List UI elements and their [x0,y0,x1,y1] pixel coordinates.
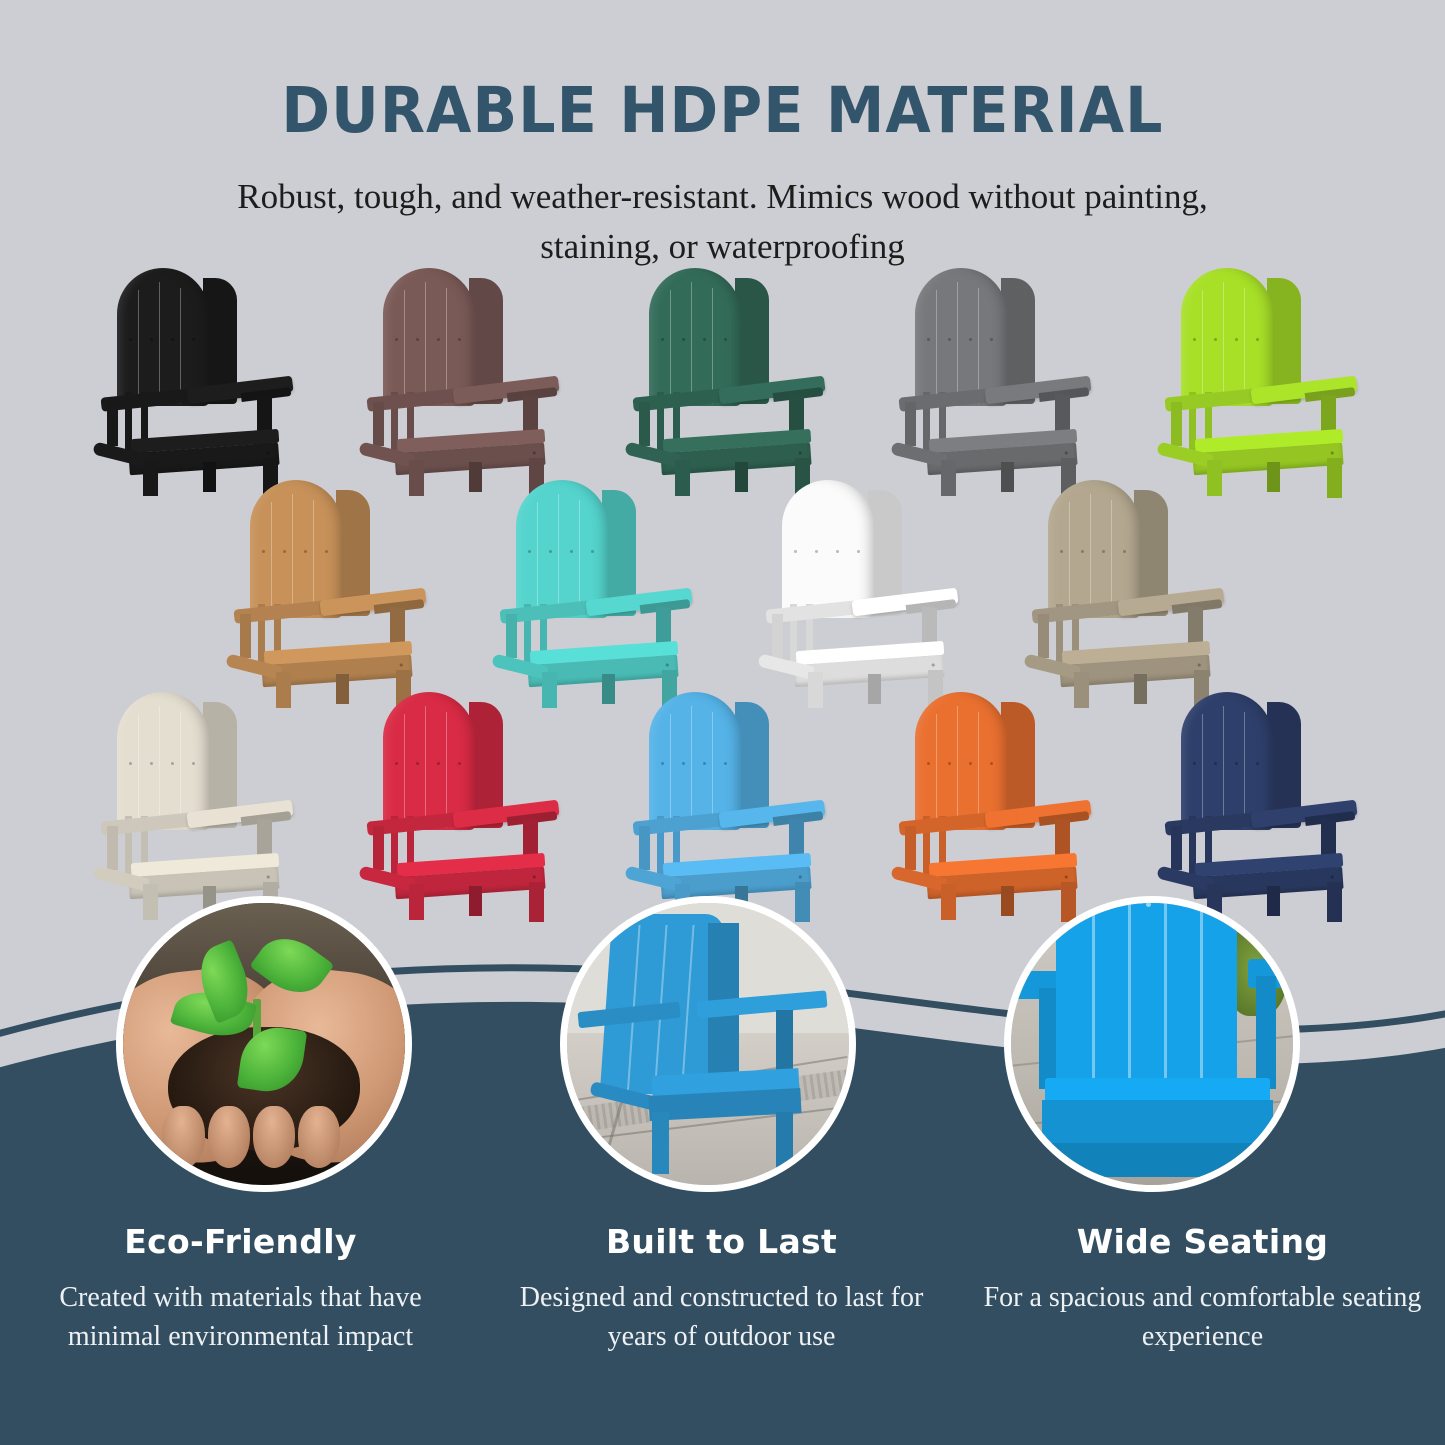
screw-dot [395,338,398,341]
eco-finger [208,1106,250,1168]
chair-swatch-teak[interactable] [224,474,424,704]
screw-dot [283,550,286,553]
chair-back [117,692,209,830]
screw-dot [171,338,174,341]
chair-back [1048,480,1140,618]
back-slat-gap [936,714,938,828]
screw-dot [192,762,195,765]
back-slat-gap [691,282,693,404]
screw-dot [1193,338,1196,341]
eco-finger [298,1106,340,1168]
eco-finger [253,1106,295,1168]
back-slat-gap [159,706,161,828]
back-slat-gap [1200,896,1203,1083]
chair-left-arm-post [1038,614,1049,658]
screw-dot [1214,762,1217,765]
screw-dot [266,875,269,878]
chair-front-leg [409,884,424,920]
back-slat-gap [1092,896,1095,1083]
screw-dot [1123,550,1126,553]
chair-swatch-lime-green[interactable] [1155,262,1355,492]
screw-dot [399,663,402,666]
chair-swatch-navy-blue[interactable] [1155,686,1355,916]
eco-photo-inner [123,903,405,1185]
built-chair-arm-post [776,1010,793,1072]
back-slat-gap [138,290,140,404]
screw-dot [857,550,860,553]
feature-wide-seating: Wide Seating For a spacious and comforta… [962,1222,1443,1356]
chair-left-arm-post [107,826,118,870]
chair-row-3 [0,686,1445,916]
chair-left-arm-post [373,826,384,870]
chair-back [383,268,475,406]
back-slat-gap [824,494,826,616]
back-slat-gap [957,282,959,404]
photo-built-to-last [560,896,856,1192]
screw-dot [150,338,153,341]
wide-chair-seat [1045,1078,1271,1103]
wide-chair-apron [1042,1100,1273,1145]
chair-left-arm-post [905,402,916,446]
back-slat-gap [579,500,581,616]
screw-dot [948,338,951,341]
screw-dot [591,550,594,553]
screw-dot [304,550,307,553]
chair-left-arm-post [1171,402,1182,446]
back-slat-gap [313,500,315,616]
screw-dot [395,762,398,765]
back-slat-gap [404,290,406,404]
screw-dot [532,875,535,878]
back-slat-gap [138,714,140,828]
screw-dot [262,550,265,553]
back-slat-gap [425,706,427,828]
back-slat-gap [1164,896,1167,1083]
screw-dot [528,550,531,553]
screw-dot [416,762,419,765]
screw-dot [1110,902,1115,907]
back-slat-gap [404,714,406,828]
screw-dot [931,663,934,666]
back-slat-gap [957,706,959,828]
chair-back-leg [469,886,482,916]
screw-dot [1197,663,1200,666]
screw-dot [1081,550,1084,553]
back-slat-gap [292,494,294,616]
screw-dot [661,338,664,341]
screw-dot [1235,338,1238,341]
screw-dot [990,338,993,341]
screw-dot [325,550,328,553]
chair-back [1181,268,1273,406]
built-chair-front-leg [776,1112,793,1174]
back-slat-gap [712,712,714,828]
back-slat-gap [1244,288,1246,404]
chair-back [1181,692,1273,830]
screw-dot [416,338,419,341]
wide-chair-right-post [1256,976,1276,1089]
wide-chair-lower-apron [1042,1143,1273,1177]
screw-dot [549,550,552,553]
chair-front-leg [529,882,544,922]
chair-left-arm-post [373,402,384,446]
screw-dot [1060,550,1063,553]
back-slat-gap [1111,500,1113,616]
chair-back [649,268,741,406]
back-slat-gap [180,712,182,828]
screw-dot [437,762,440,765]
back-slat-gap [682,925,696,1091]
built-photo-inner [567,903,849,1185]
feature-title: Built to Last [497,1222,946,1261]
built-chair-front-leg [652,1112,669,1174]
screw-dot [129,762,132,765]
screw-dot [1256,338,1259,341]
back-slat-gap [670,714,672,828]
eco-finger [162,1106,204,1168]
back-slat-gap [1223,706,1225,828]
back-slat-gap [691,706,693,828]
screw-dot [794,550,797,553]
chair-left-arm-post [905,826,916,870]
back-slat-gap [446,712,448,828]
feature-list: Eco-Friendly Created with materials that… [0,1222,1445,1356]
screw-dot [969,338,972,341]
back-slat-gap [1128,896,1131,1083]
chair-back [250,480,342,618]
screw-dot [703,338,706,341]
screw-dot [129,338,132,341]
header: DURABLE HDPE MATERIAL Robust, tough, and… [0,0,1445,272]
wide-photo-inner [1011,903,1293,1185]
chair-back [782,480,874,618]
screw-dot [1235,762,1238,765]
back-slat-gap [271,502,273,616]
chair-row-2 [0,474,1445,704]
chair-back [117,268,209,406]
chair-back [915,268,1007,406]
back-slat-gap [978,288,980,404]
back-slat-gap [180,288,182,404]
screw-dot [682,762,685,765]
chair-front-leg [1327,882,1342,922]
screw-dot [570,550,573,553]
back-slat-gap [712,288,714,404]
page-subtitle: Robust, tough, and weather-resistant. Mi… [218,172,1228,271]
chair-color-grid [0,262,1445,922]
screw-dot [1193,762,1196,765]
back-slat-gap [1090,494,1092,616]
screw-dot [532,451,535,454]
screw-dot [1330,875,1333,878]
screw-dot [948,762,951,765]
screw-dot [661,762,664,765]
back-slat-gap [537,502,539,616]
chair-swatch-weathered-wood[interactable] [1022,474,1222,704]
chair-swatch-black[interactable] [91,262,291,492]
chair-swatch-white[interactable] [756,474,956,704]
chair-swatch-red[interactable] [357,686,557,916]
back-slat-gap [1223,282,1225,404]
chair-row-1 [0,262,1445,492]
photo-eco-friendly [116,896,412,1192]
back-slat-gap [1202,290,1204,404]
chair-left-arm-post [240,614,251,658]
feature-description: Designed and constructed to last for yea… [497,1279,946,1356]
screw-dot [171,762,174,765]
screw-dot [1064,875,1067,878]
back-slat-gap [1069,502,1071,616]
back-slat-gap [803,502,805,616]
chair-swatch-dark-green[interactable] [623,262,823,492]
screw-dot [798,875,801,878]
screw-dot [458,762,461,765]
chair-swatch-orange[interactable] [889,686,1089,916]
chair-back [649,692,741,830]
screw-dot [1102,550,1105,553]
screw-dot [1330,451,1333,454]
page-title: DURABLE HDPE MATERIAL [51,78,1395,144]
back-slat-gap [558,494,560,616]
chair-back [915,692,1007,830]
back-slat-gap [159,282,161,404]
chair-swatch-ivory[interactable] [91,686,291,916]
screw-dot [969,762,972,765]
screw-dot [990,762,993,765]
back-slat-gap [1202,714,1204,828]
chair-left-arm-post [772,614,783,658]
screw-dot [682,338,685,341]
screw-dot [1256,762,1259,765]
screw-dot [437,338,440,341]
chair-swatch-light-blue[interactable] [623,686,823,916]
back-slat-gap [978,712,980,828]
screw-dot [724,338,727,341]
back-slat-gap [845,500,847,616]
chair-left-arm-post [639,402,650,446]
feature-title: Eco-Friendly [16,1222,465,1261]
back-slat-gap [670,290,672,404]
feature-description: For a spacious and comfortable seating e… [978,1279,1427,1356]
screw-dot [192,338,195,341]
back-slat-gap [446,288,448,404]
back-slat-gap [936,290,938,404]
feature-built-to-last: Built to Last Designed and constructed t… [481,1222,962,1356]
chair-back [383,692,475,830]
chair-swatch-turquoise[interactable] [490,474,690,704]
chair-left-arm-post [107,402,118,446]
screw-dot [927,762,930,765]
screw-dot [1064,451,1067,454]
screw-dot [927,338,930,341]
back-slat-gap [1244,712,1246,828]
chair-left-arm-post [506,614,517,658]
chair-swatch-brown[interactable] [357,262,557,492]
screw-dot [836,550,839,553]
screw-dot [1214,338,1217,341]
screw-dot [703,762,706,765]
screw-dot [815,550,818,553]
feature-title: Wide Seating [978,1222,1427,1261]
screw-dot [458,338,461,341]
screw-dot [266,451,269,454]
feature-eco-friendly: Eco-Friendly Created with materials that… [0,1222,481,1356]
feature-description: Created with materials that have minimal… [16,1279,465,1356]
screw-dot [1182,902,1187,907]
chair-back [516,480,608,618]
chair-front-leg [941,884,956,920]
wide-chair-back [1056,896,1236,1083]
photo-wide-seating [1004,896,1300,1192]
chair-swatch-gray[interactable] [889,262,1089,492]
screw-dot [150,762,153,765]
screw-dot [724,762,727,765]
chair-left-arm-post [639,826,650,870]
back-slat-gap [425,282,427,404]
chair-left-arm-post [1171,826,1182,870]
screw-dot [1146,902,1151,907]
screw-dot [798,451,801,454]
screw-dot [665,663,668,666]
